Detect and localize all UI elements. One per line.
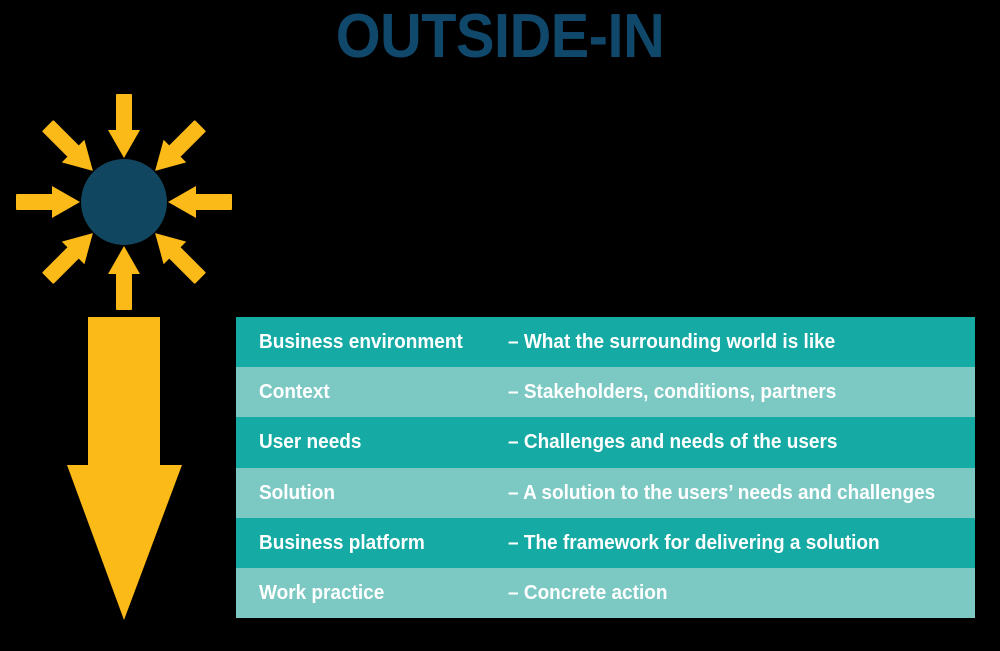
row-term: Context <box>259 381 496 403</box>
row-description: – Challenges and needs of the users <box>508 431 952 453</box>
row-description: – Stakeholders, conditions, partners <box>508 381 952 403</box>
down-arrow-icon <box>67 317 182 620</box>
row-term: Business platform <box>259 532 496 554</box>
sun-inward-arrows-diagram <box>8 88 240 323</box>
row-term: User needs <box>259 431 496 453</box>
row-term: Solution <box>259 482 496 504</box>
row-description: – Concrete action <box>508 582 952 604</box>
table-row: Context – Stakeholders, conditions, part… <box>236 367 975 417</box>
row-term: Business environment <box>259 331 496 353</box>
center-circle-icon <box>81 159 167 245</box>
large-down-arrow <box>55 310 195 625</box>
inward-arrow-top <box>108 94 140 158</box>
row-description: – What the surrounding world is like <box>508 331 952 353</box>
inward-arrow-right <box>168 186 232 218</box>
inward-arrow-bottom <box>108 246 140 310</box>
page-title: OUTSIDE-IN <box>35 2 965 72</box>
row-description: – The framework for delivering a solutio… <box>508 532 952 554</box>
table-row: Solution – A solution to the users’ need… <box>236 468 975 518</box>
concept-table: Business environment – What the surround… <box>236 317 975 618</box>
table-row: User needs – Challenges and needs of the… <box>236 417 975 467</box>
inward-arrow-left <box>16 186 80 218</box>
table-row: Business platform – The framework for de… <box>236 518 975 568</box>
row-term: Work practice <box>259 582 496 604</box>
table-row: Work practice – Concrete action <box>236 568 975 618</box>
row-description: – A solution to the users’ needs and cha… <box>508 482 952 504</box>
table-row: Business environment – What the surround… <box>236 317 975 367</box>
